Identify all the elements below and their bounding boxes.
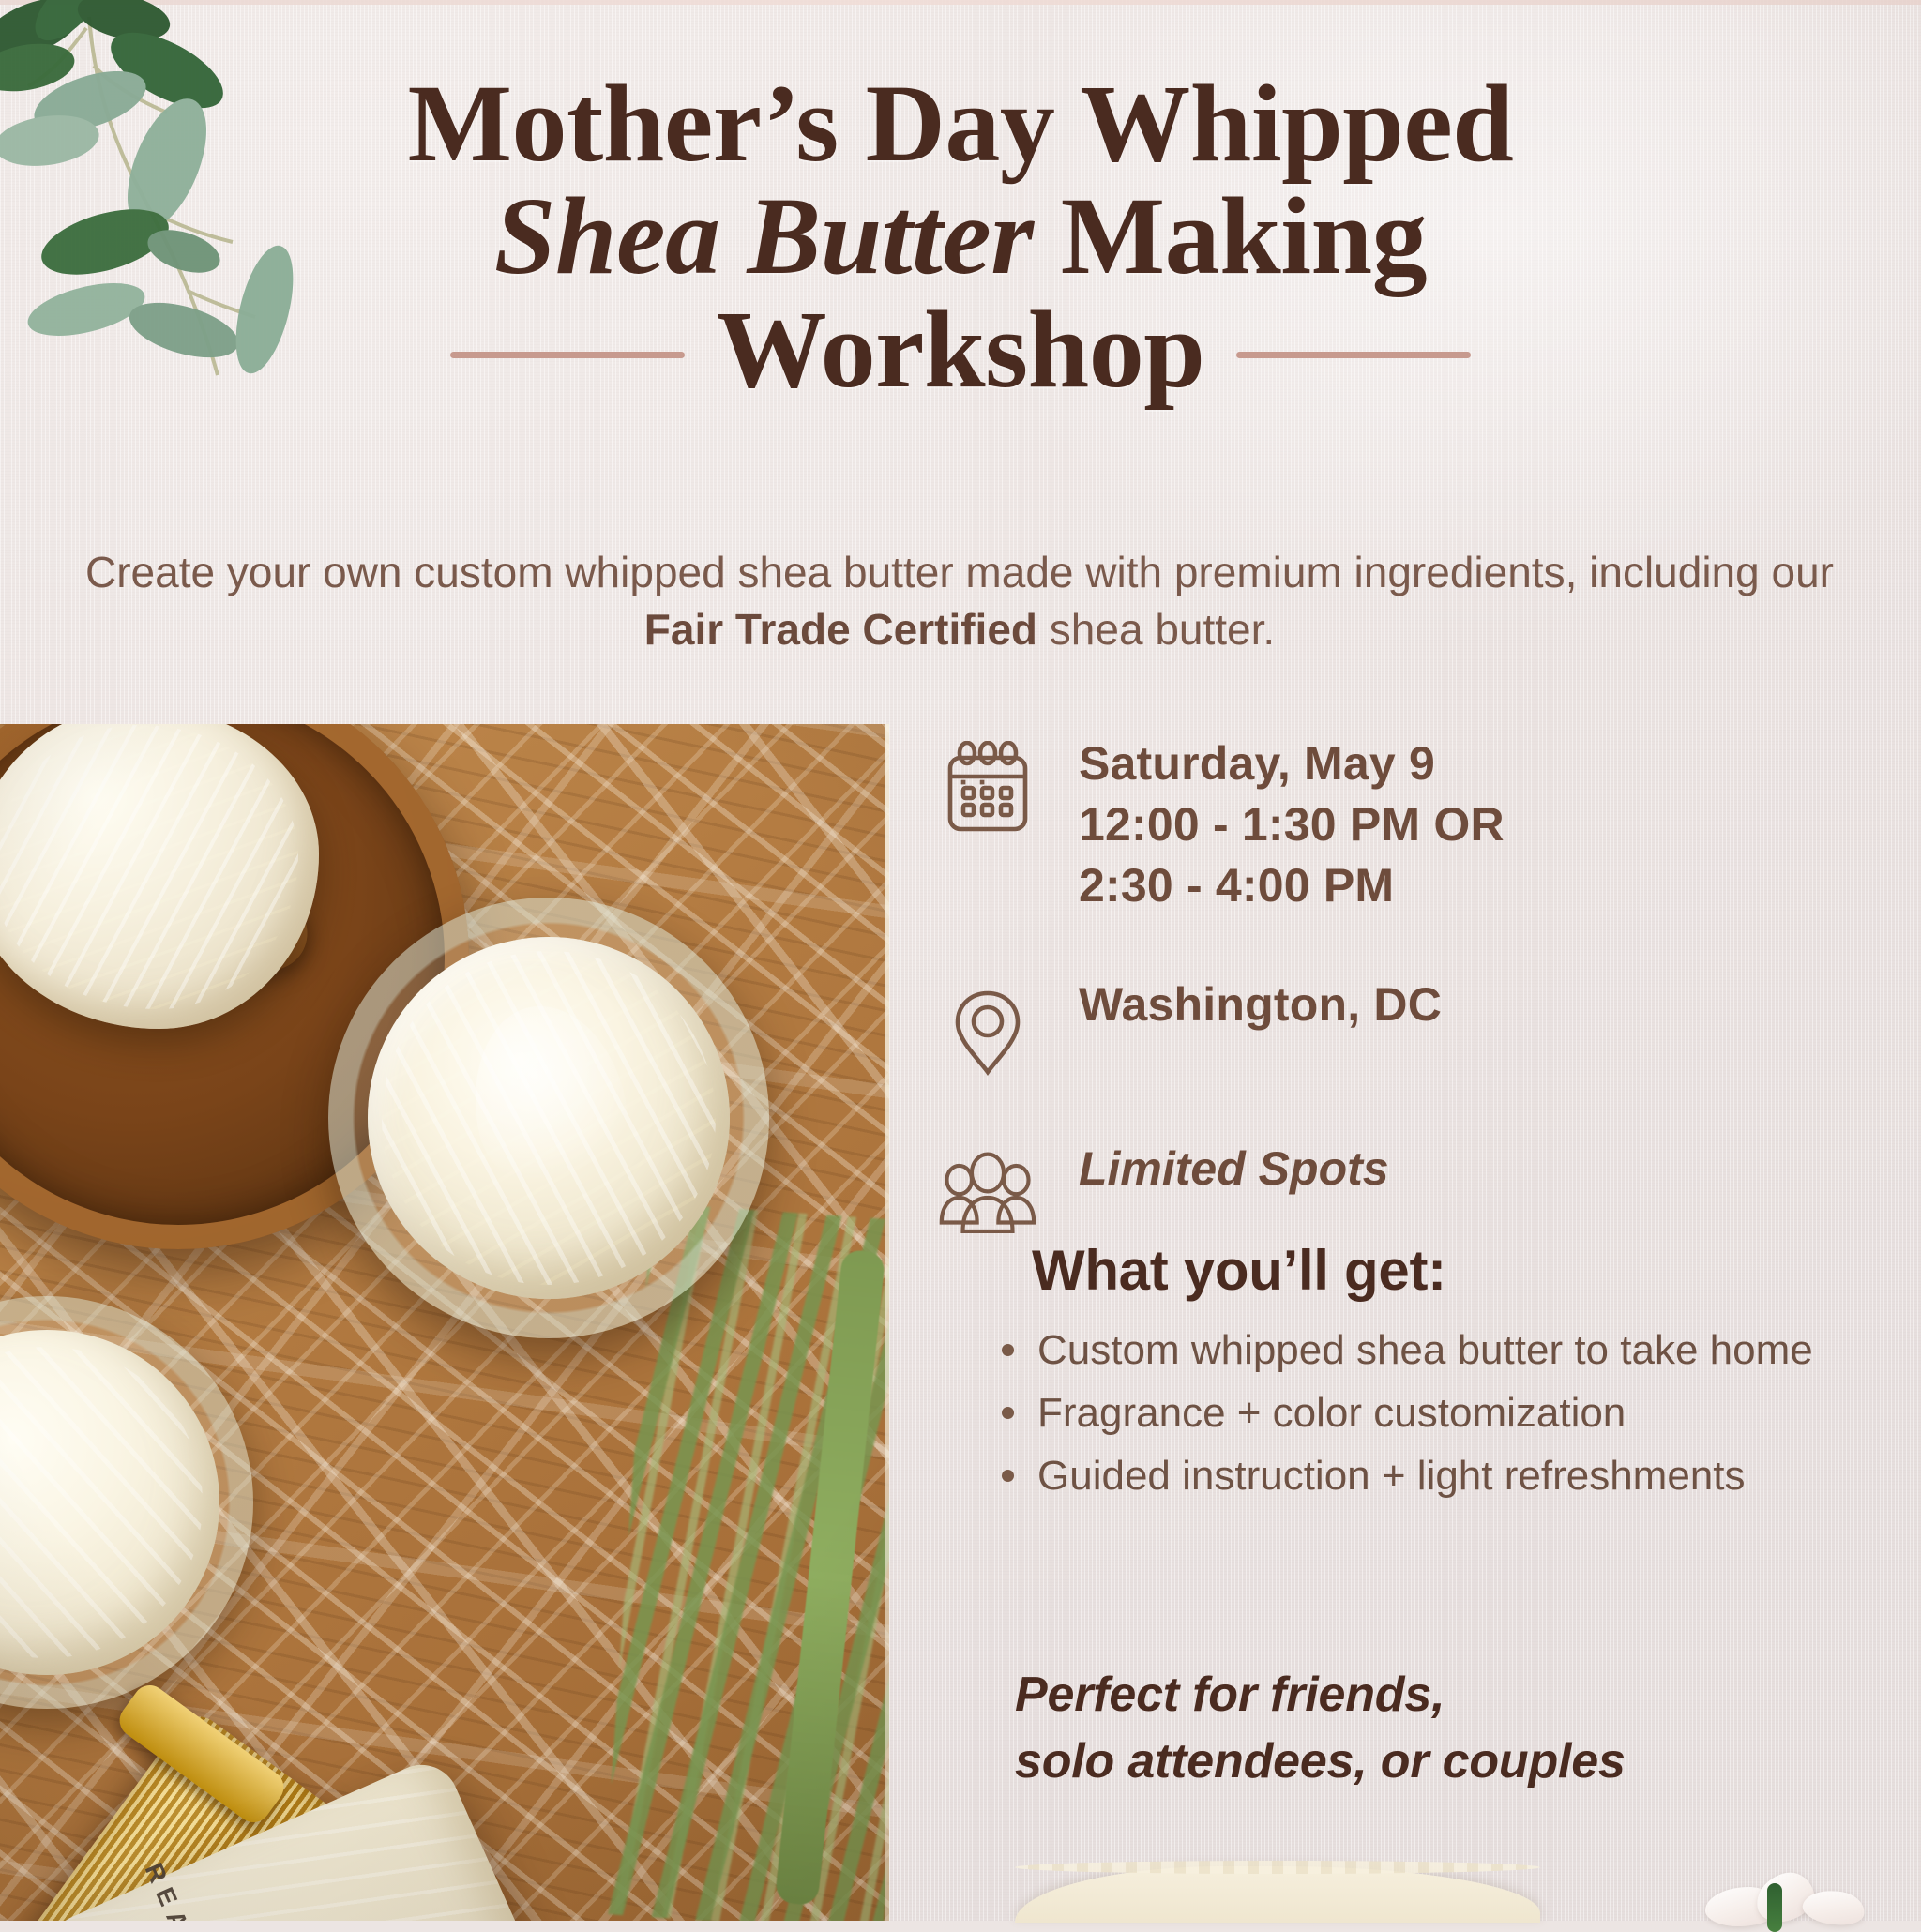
photo-vignette [0, 724, 889, 1921]
headline-line-1: Mother’s Day Whipped [0, 68, 1921, 180]
location-pin-icon [938, 974, 1037, 1079]
detail-row-location: Washington, DC [938, 974, 1876, 1079]
event-time-option-2: 2:30 - 4:00 PM [1079, 855, 1876, 916]
headline-line-2: Shea Butter Making [0, 180, 1921, 293]
headline-line-3-wrap: Workshop [0, 294, 1921, 406]
detail-text-capacity: Limited Spots [1079, 1141, 1876, 1196]
decorative-rule-right [1236, 352, 1471, 358]
detail-row-capacity: Limited Spots [938, 1141, 1876, 1246]
detail-row-date: Saturday, May 9 12:00 - 1:30 PM OR 2:30 … [938, 733, 1876, 916]
benefit-item: Custom whipped shea butter to take home [976, 1323, 1913, 1377]
closing-statement: Perfect for friends, solo attendees, or … [1015, 1662, 1921, 1794]
calendar-icon [938, 733, 1037, 838]
photo-right-edge [885, 724, 889, 1921]
top-accent-line [0, 0, 1921, 5]
flower-stem [1767, 1883, 1782, 1932]
subtitle-part-2: shea butter. [1037, 605, 1275, 654]
benefits-section: What you’ll get: Custom whipped shea but… [976, 1238, 1913, 1513]
headline-line-2-rest: Making [1034, 174, 1427, 297]
event-details-list: Saturday, May 9 12:00 - 1:30 PM OR 2:30 … [938, 724, 1876, 1256]
closing-line-1: Perfect for friends, [1015, 1662, 1921, 1728]
event-location: Washington, DC [1079, 974, 1876, 1035]
product-photo: REAL RAW SHEA Whipped Shea Butter Infuse… [0, 724, 889, 1921]
capacity-note: Limited Spots [1079, 1141, 1876, 1196]
headline-emphasis: Shea Butter [494, 174, 1034, 297]
page-title: Mother’s Day Whipped Shea Butter Making … [0, 68, 1921, 406]
headline-line-3: Workshop [717, 294, 1205, 406]
closing-line-2: solo attendees, or couples [1015, 1728, 1921, 1795]
benefit-item: Guided instruction + light refreshments [976, 1449, 1913, 1502]
benefits-title: What you’ll get: [1032, 1238, 1913, 1303]
subtitle-bold-phrase: Fair Trade Certified [644, 605, 1037, 654]
subtitle: Create your own custom whipped shea butt… [73, 544, 1846, 657]
white-flower-decoration [1705, 1868, 1865, 1923]
detail-text-date: Saturday, May 9 12:00 - 1:30 PM OR 2:30 … [1079, 733, 1876, 916]
subtitle-part-1: Create your own custom whipped shea butt… [85, 548, 1834, 596]
benefits-list: Custom whipped shea butter to take home … [976, 1323, 1913, 1503]
detail-text-location: Washington, DC [1079, 974, 1876, 1035]
decorative-rule-left [450, 352, 685, 358]
people-group-icon [938, 1141, 1037, 1246]
event-time-option-1: 12:00 - 1:30 PM OR [1079, 794, 1876, 855]
benefit-item: Fragrance + color customization [976, 1386, 1913, 1440]
event-date: Saturday, May 9 [1079, 733, 1876, 794]
